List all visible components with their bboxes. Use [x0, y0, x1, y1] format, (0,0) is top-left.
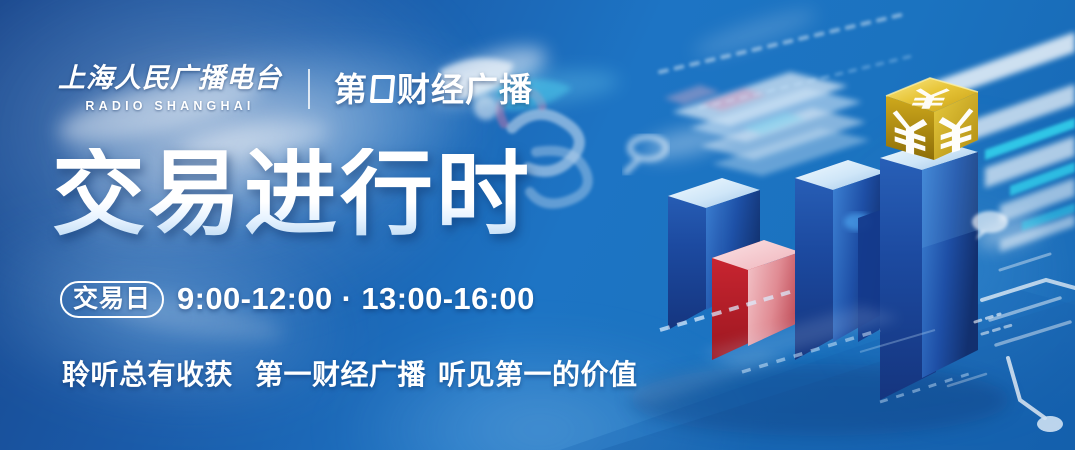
schedule-row: 交易日 9:00-12:00 · 13:00-16:00 [60, 279, 535, 319]
station-logo-cn: 上海人民广播电台 [58, 65, 282, 92]
gold-currency-cube [886, 78, 978, 160]
channel-logo-prefix: 第 [334, 73, 368, 106]
ring-accent-icon [626, 137, 666, 172]
tagline-part-2: 第一财经广播 [255, 353, 426, 393]
tagline: 聆听总有收获 第一财经广播 听见第一的价值 [62, 353, 638, 393]
logo-divider [308, 69, 310, 109]
tagline-part-3: 听见第一的价值 [438, 353, 638, 393]
schedule-hours: 9:00-12:00 · 13:00-16:00 [177, 281, 535, 317]
tagline-part-1: 聆听总有收获 [62, 353, 233, 393]
trading-day-badge: 交易日 [60, 281, 164, 318]
channel-logo[interactable]: 第 财经广播 [334, 73, 533, 106]
yi-rectangle-icon [370, 75, 395, 103]
broadcast-promo-banner: 上海人民广播电台 RADIO SHANGHAI 第 财经广播 交易进行时 交易日… [0, 0, 1075, 450]
station-logo[interactable]: 上海人民广播电台 RADIO SHANGHAI [58, 65, 282, 113]
data-slab-cluster [664, 72, 870, 176]
logo-row: 上海人民广播电台 RADIO SHANGHAI 第 财经广播 [58, 60, 533, 118]
station-logo-en: RADIO SHANGHAI [85, 99, 254, 113]
channel-logo-suffix: 财经广播 [397, 73, 533, 106]
page-title: 交易进行时 [52, 148, 532, 241]
